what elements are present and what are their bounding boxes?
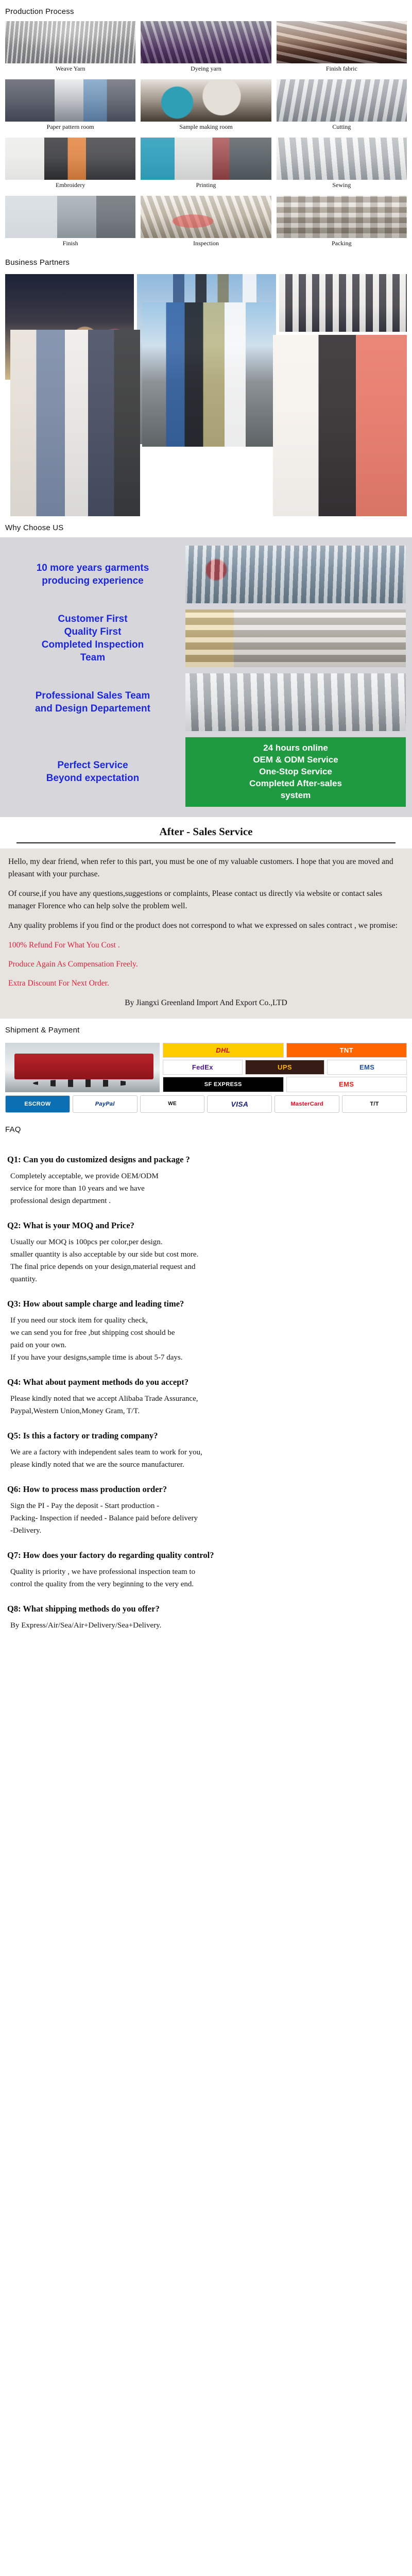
why-choose-row: Perfect Service Beyond expectation 24 ho…	[0, 734, 412, 810]
production-process-heading: Production Process	[0, 0, 412, 21]
shipment-payment-heading: Shipment & Payment	[0, 1019, 412, 1040]
production-step: Dyeing yarn	[141, 21, 271, 76]
ems-logo: EMS	[327, 1060, 407, 1075]
why-choose-image	[185, 546, 406, 603]
delivery-truck-image	[5, 1043, 160, 1092]
production-step-image	[141, 79, 271, 122]
courier-logo-stack: DHL TNT FedEx UPS EMS SF EXPRESS EMS	[163, 1043, 407, 1092]
production-step-image	[5, 79, 135, 122]
production-step-caption: Dyeing yarn	[141, 63, 271, 76]
production-step-caption: Packing	[277, 238, 407, 251]
payment-logos-row: ESCROW PayPal WE VISA MasterCard T/T	[5, 1095, 407, 1113]
production-step: Weave Yarn	[5, 21, 135, 76]
faq-answer: Quality is priority , we have profession…	[10, 1566, 405, 1590]
production-step-caption: Sewing	[277, 180, 407, 193]
dhl-logo: DHL	[163, 1043, 284, 1058]
paypal-logo: PayPal	[73, 1095, 138, 1113]
faq-answer: If you need our stock item for quality c…	[10, 1314, 405, 1364]
faq-answer: Usually our MOQ is 100pcs per color,per …	[10, 1236, 405, 1285]
after-sales-paragraph-2: Of course,if you have any questions,sugg…	[8, 888, 404, 912]
after-sales-divider	[16, 842, 396, 843]
after-sales-promise: Produce Again As Compensation Freely.	[8, 958, 404, 970]
production-step: Finish	[5, 196, 135, 251]
faq-answer: Completely acceptable, we provide OEM/OD…	[10, 1170, 405, 1207]
production-step: Printing	[141, 138, 271, 193]
why-choose-row: Professional Sales Team and Design Depar…	[0, 670, 412, 734]
faq-heading: FAQ	[0, 1118, 412, 1139]
production-step: Cutting	[277, 79, 407, 134]
production-step-image	[277, 196, 407, 238]
faq-question: Q2: What is your MOQ and Price?	[7, 1221, 405, 1231]
why-choose-green-panel: 24 hours online OEM & ODM Service One-St…	[185, 737, 406, 807]
after-sales-paragraph-3: Any quality problems if you find or the …	[8, 920, 404, 932]
production-step-caption: Sample making room	[141, 122, 271, 134]
why-choose-image	[185, 673, 406, 731]
production-step-caption: Inspection	[141, 238, 271, 251]
faq-question: Q6: How to process mass production order…	[7, 1484, 405, 1495]
production-step-image	[141, 21, 271, 63]
after-sales-promise: Extra Discount For Next Order.	[8, 977, 404, 989]
production-step-caption: Paper pattern room	[5, 122, 135, 134]
shipment-payment-section: DHL TNT FedEx UPS EMS SF EXPRESS EMS ESC…	[0, 1043, 412, 1118]
why-choose-text: Customer First Quality First Completed I…	[0, 613, 185, 664]
production-step-image	[141, 196, 271, 238]
why-choose-text: Professional Sales Team and Design Depar…	[0, 689, 185, 715]
ems-logo: EMS	[286, 1077, 407, 1092]
why-choose-text: 10 more years garments producing experie…	[0, 562, 185, 587]
faq-answer: Sign the PI - Pay the deposit - Start pr…	[10, 1500, 405, 1537]
product-detail-page: Production Process Weave Yarn Dyeing yar…	[0, 0, 412, 1647]
production-step: Sewing	[277, 138, 407, 193]
partner-photo	[273, 335, 407, 516]
why-choose-us-heading: Why Choose US	[0, 516, 412, 537]
production-step: Finish fabric	[277, 21, 407, 76]
production-step-caption: Finish fabric	[277, 63, 407, 76]
faq-question: Q4: What about payment methods do you ac…	[7, 1377, 405, 1387]
production-step: Embroidery	[5, 138, 135, 193]
after-sales-paragraph-1: Hello, my dear friend, when refer to thi…	[8, 856, 404, 880]
partner-photo	[142, 302, 275, 447]
ups-logo: UPS	[245, 1060, 325, 1075]
courier-logo-line: DHL TNT	[163, 1043, 407, 1058]
after-sales-body: Hello, my dear friend, when refer to thi…	[0, 849, 412, 1019]
partner-photo	[279, 274, 407, 332]
production-step-caption: Weave Yarn	[5, 63, 135, 76]
faq-answer: By Express/Air/Sea/Air+Delivery/Sea+Deli…	[10, 1619, 405, 1632]
faq-question: Q3: How about sample charge and leading …	[7, 1299, 405, 1309]
courier-logo-line: SF EXPRESS EMS	[163, 1077, 407, 1092]
western-union-logo: WE	[140, 1095, 205, 1113]
production-step-caption: Embroidery	[5, 180, 135, 193]
business-partners-heading: Business Partners	[0, 251, 412, 272]
visa-logo: VISA	[207, 1095, 272, 1113]
courier-logo-line: FedEx UPS EMS	[163, 1060, 407, 1075]
production-step: Packing	[277, 196, 407, 251]
tt-logo: T/T	[342, 1095, 407, 1113]
production-step-image	[5, 138, 135, 180]
escrow-logo: ESCROW	[5, 1095, 70, 1113]
courier-logos-row: DHL TNT FedEx UPS EMS SF EXPRESS EMS	[5, 1043, 407, 1092]
why-choose-text: Perfect Service Beyond expectation	[0, 759, 185, 785]
why-choose-row: 10 more years garments producing experie…	[0, 543, 412, 606]
faq-question: Q8: What shipping methods do you offer?	[7, 1604, 405, 1614]
production-step: Paper pattern room	[5, 79, 135, 134]
mastercard-logo: MasterCard	[274, 1095, 339, 1113]
why-choose-image	[185, 609, 406, 667]
partner-photo	[10, 330, 140, 516]
production-step-caption: Printing	[141, 180, 271, 193]
production-step-image	[5, 196, 135, 238]
production-step: Inspection	[141, 196, 271, 251]
production-step-caption: Finish	[5, 238, 135, 251]
sf-express-logo: SF EXPRESS	[163, 1077, 284, 1092]
after-sales-signature: By Jiangxi Greenland Import And Export C…	[8, 997, 404, 1009]
production-step-image	[5, 21, 135, 63]
faq-section: Q1: Can you do customized designs and pa…	[0, 1139, 412, 1647]
production-step-image	[277, 138, 407, 180]
production-step-image	[277, 21, 407, 63]
faq-question: Q1: Can you do customized designs and pa…	[7, 1155, 405, 1165]
after-sales-heading: After - Sales Service	[0, 817, 412, 840]
production-step: Sample making room	[141, 79, 271, 134]
tnt-logo: TNT	[286, 1043, 407, 1058]
faq-answer: We are a factory with independent sales …	[10, 1446, 405, 1471]
production-process-grid: Weave Yarn Dyeing yarn Finish fabric Pap…	[5, 21, 407, 251]
business-partners-collage	[5, 274, 407, 516]
fedex-logo: FedEx	[163, 1060, 243, 1075]
why-choose-us-section: 10 more years garments producing experie…	[0, 537, 412, 817]
faq-question: Q5: Is this a factory or trading company…	[7, 1431, 405, 1441]
after-sales-promise: 100% Refund For What You Cost .	[8, 939, 404, 951]
faq-question: Q7: How does your factory do regarding q…	[7, 1550, 405, 1561]
production-step-caption: Cutting	[277, 122, 407, 134]
production-step-image	[141, 138, 271, 180]
production-step-image	[277, 79, 407, 122]
why-choose-row: Customer First Quality First Completed I…	[0, 606, 412, 670]
production-process-section: Weave Yarn Dyeing yarn Finish fabric Pap…	[0, 21, 412, 251]
faq-answer: Please kindly noted that we accept Aliba…	[10, 1393, 405, 1417]
